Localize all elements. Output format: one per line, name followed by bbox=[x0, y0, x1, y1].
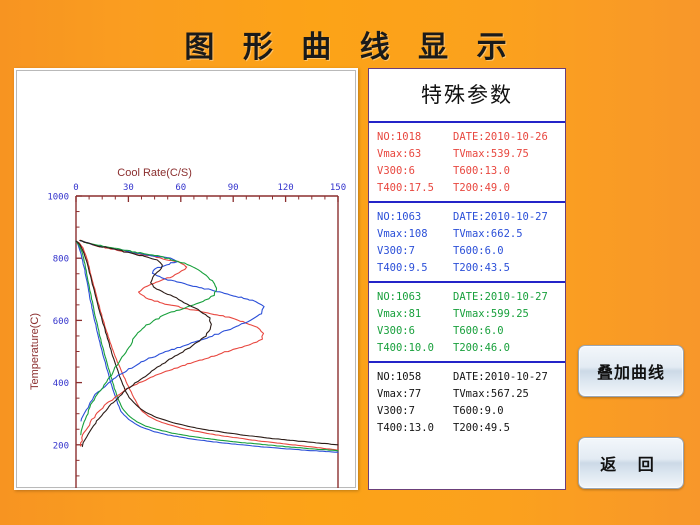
param-row-v300: V300:6T600:6.0 bbox=[369, 323, 565, 340]
chart-series-coolrate-no-1058 bbox=[80, 240, 212, 446]
param-right-value: TVmax:567.25 bbox=[453, 386, 565, 403]
param-row-vmax: Vmax:81TVmax:599.25 bbox=[369, 306, 565, 323]
param-left-value: NO:1058 bbox=[377, 369, 453, 386]
x2-tick-label: 60 bbox=[175, 183, 186, 193]
param-right-value: T600:13.0 bbox=[453, 163, 565, 180]
chart-series-coolrate-no-1063-blue bbox=[81, 241, 264, 421]
param-row-no: NO:1063DATE:2010-10-27 bbox=[369, 209, 565, 226]
param-right-value: DATE:2010-10-27 bbox=[453, 289, 565, 306]
param-left-value: NO:1063 bbox=[377, 209, 453, 226]
special-parameters-panel: 特殊参数 NO:1018DATE:2010-10-26Vmax:63TVmax:… bbox=[368, 68, 566, 490]
param-row-v300: V300:7T600:6.0 bbox=[369, 243, 565, 260]
param-left-value: T400:10.0 bbox=[377, 340, 453, 357]
param-right-value: T600:9.0 bbox=[453, 403, 565, 420]
param-right-value: T200:46.0 bbox=[453, 340, 565, 357]
page-title: 图 形 曲 线 显 示 bbox=[0, 22, 700, 66]
x2-axis-title: Cool Rate(C/S) bbox=[117, 167, 192, 179]
param-block: NO:1018DATE:2010-10-26Vmax:63TVmax:539.7… bbox=[369, 121, 565, 201]
chart-series-no-1063-green bbox=[76, 241, 338, 451]
chart-plot-area: 0122436486003060901201500200400600800100… bbox=[16, 70, 356, 488]
param-row-t400: T400:17.5T200:49.0 bbox=[369, 180, 565, 197]
param-left-value: NO:1018 bbox=[377, 129, 453, 146]
param-block-list: NO:1018DATE:2010-10-26Vmax:63TVmax:539.7… bbox=[369, 121, 565, 441]
param-right-value: TVmax:662.5 bbox=[453, 226, 565, 243]
param-block: NO:1063DATE:2010-10-27Vmax:108TVmax:662.… bbox=[369, 201, 565, 281]
param-row-vmax: Vmax:108TVmax:662.5 bbox=[369, 226, 565, 243]
param-row-t400: T400:9.5T200:43.5 bbox=[369, 260, 565, 277]
param-left-value: NO:1063 bbox=[377, 289, 453, 306]
y-tick-label: 200 bbox=[53, 441, 69, 451]
param-row-vmax: Vmax:63TVmax:539.75 bbox=[369, 146, 565, 163]
chart-series-no-1018 bbox=[76, 241, 338, 450]
param-left-value: Vmax:81 bbox=[377, 306, 453, 323]
param-left-value: Vmax:77 bbox=[377, 386, 453, 403]
x2-tick-label: 0 bbox=[73, 183, 78, 193]
param-row-v300: V300:7T600:9.0 bbox=[369, 403, 565, 420]
param-row-no: NO:1063DATE:2010-10-27 bbox=[369, 289, 565, 306]
param-right-value: T600:6.0 bbox=[453, 243, 565, 260]
param-left-value: T400:17.5 bbox=[377, 180, 453, 197]
chart-panel: 0122436486003060901201500200400600800100… bbox=[14, 68, 358, 490]
y-tick-label: 800 bbox=[53, 255, 69, 265]
param-block: NO:1058DATE:2010-10-27Vmax:77TVmax:567.2… bbox=[369, 361, 565, 441]
chart-series-coolrate-no-1018 bbox=[81, 240, 264, 446]
chart-series-no-1063-blue bbox=[76, 241, 338, 452]
param-right-value: DATE:2010-10-26 bbox=[453, 129, 565, 146]
overlay-curves-button[interactable]: 叠加曲线 bbox=[578, 345, 684, 397]
param-right-value: DATE:2010-10-27 bbox=[453, 369, 565, 386]
param-row-t400: T400:13.0T200:49.5 bbox=[369, 420, 565, 437]
param-row-no: NO:1018DATE:2010-10-26 bbox=[369, 129, 565, 146]
param-right-value: TVmax:599.25 bbox=[453, 306, 565, 323]
y-tick-label: 600 bbox=[53, 317, 69, 327]
param-row-t400: T400:10.0T200:46.0 bbox=[369, 340, 565, 357]
param-right-value: T200:49.0 bbox=[453, 180, 565, 197]
param-left-value: Vmax:108 bbox=[377, 226, 453, 243]
param-left-value: V300:7 bbox=[377, 243, 453, 260]
param-row-v300: V300:6T600:13.0 bbox=[369, 163, 565, 180]
y-tick-label: 400 bbox=[53, 379, 69, 389]
param-right-value: T200:49.5 bbox=[453, 420, 565, 437]
param-left-value: V300:6 bbox=[377, 163, 453, 180]
param-left-value: V300:7 bbox=[377, 403, 453, 420]
param-left-value: Vmax:63 bbox=[377, 146, 453, 163]
param-right-value: DATE:2010-10-27 bbox=[453, 209, 565, 226]
param-row-no: NO:1058DATE:2010-10-27 bbox=[369, 369, 565, 386]
param-block: NO:1063DATE:2010-10-27Vmax:81TVmax:599.2… bbox=[369, 281, 565, 361]
temperature-cooling-chart: 0122436486003060901201500200400600800100… bbox=[16, 70, 356, 488]
x2-tick-label: 90 bbox=[228, 183, 239, 193]
chart-series-no-1058 bbox=[76, 241, 338, 445]
param-left-value: V300:6 bbox=[377, 323, 453, 340]
x2-tick-label: 120 bbox=[277, 183, 293, 193]
y-axis-title: Temperature(C) bbox=[29, 313, 41, 390]
param-panel-title: 特殊参数 bbox=[369, 69, 565, 121]
back-button[interactable]: 返 回 bbox=[578, 437, 684, 489]
param-right-value: T600:6.0 bbox=[453, 323, 565, 340]
x2-tick-label: 30 bbox=[123, 183, 134, 193]
chart-series-coolrate-no-1063-green bbox=[81, 240, 217, 434]
param-right-value: T200:43.5 bbox=[453, 260, 565, 277]
app-window: 图 形 曲 线 显 示 0122436486003060901201500200… bbox=[0, 0, 700, 525]
param-row-vmax: Vmax:77TVmax:567.25 bbox=[369, 386, 565, 403]
param-left-value: T400:9.5 bbox=[377, 260, 453, 277]
x2-tick-label: 150 bbox=[330, 183, 346, 193]
param-right-value: TVmax:539.75 bbox=[453, 146, 565, 163]
y-tick-label: 1000 bbox=[47, 193, 69, 203]
param-left-value: T400:13.0 bbox=[377, 420, 453, 437]
